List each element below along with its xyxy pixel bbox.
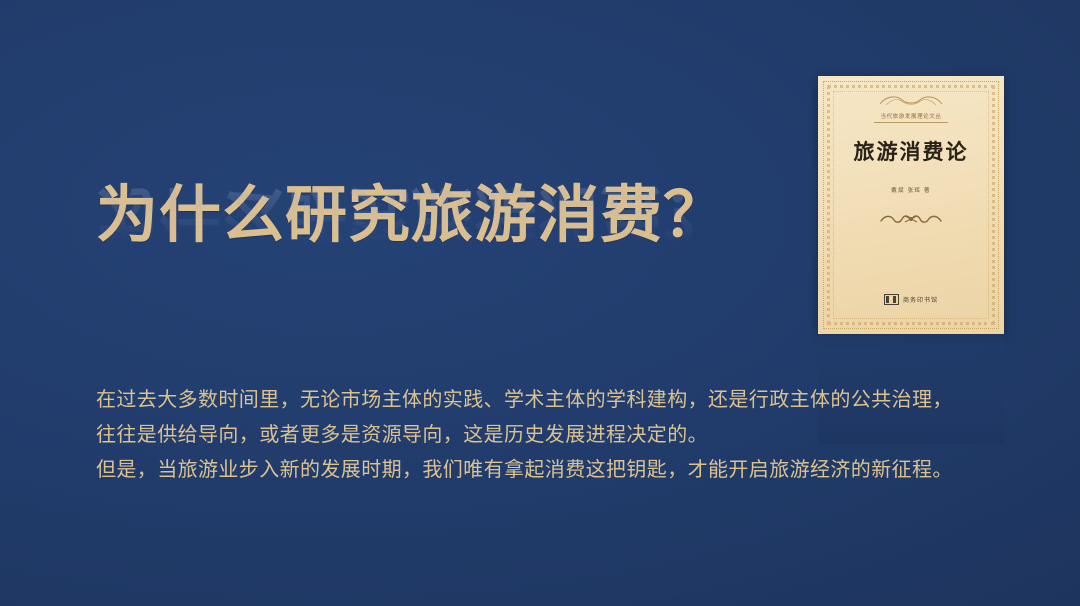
book-title: 旅游消费论	[818, 136, 1004, 166]
book-cover-image: 当代旅游发展理论文丛 旅游消费论 戴斌 张辉 著 商务印书馆	[818, 76, 1004, 334]
flourish-ornament-icon	[818, 212, 1004, 226]
body-line: 但是，当旅游业步入新的发展时期，我们唯有拿起消费这把钥匙，才能开启旅游经济的新征…	[96, 452, 996, 487]
body-line: 往往是供给导向，或者更多是资源导向，这是历史发展进程决定的。	[96, 417, 996, 452]
book-authors: 戴斌 张辉 著	[818, 186, 1004, 194]
body-line: 在过去大多数时间里，无论市场主体的实践、学术主体的学科建构，还是行政主体的公共治…	[96, 382, 996, 417]
presentation-slide: 为什么研究旅游消费？ 为什么研究旅游消费？ 当代旅游发展理论文丛 旅游消费论 戴…	[0, 0, 1080, 606]
commercial-press-logo-icon	[884, 294, 899, 305]
body-paragraph: 在过去大多数时间里，无论市场主体的实践、学术主体的学科建构，还是行政主体的公共治…	[96, 382, 996, 487]
title-block: 为什么研究旅游消费？ 为什么研究旅游消费？	[96, 178, 796, 358]
book-cover-front: 当代旅游发展理论文丛 旅游消费论 戴斌 张辉 著 商务印书馆	[818, 76, 1004, 334]
publisher-name-label: 商务印书馆	[903, 295, 938, 304]
book-series-label: 当代旅游发展理论文丛	[818, 112, 1004, 120]
book-publisher: 商务印书馆	[818, 294, 1004, 305]
page-title: 为什么研究旅游消费？	[96, 178, 726, 252]
cover-border-inner	[833, 91, 989, 319]
scroll-ornament-icon	[818, 94, 1004, 106]
cover-series-rule	[874, 122, 948, 123]
